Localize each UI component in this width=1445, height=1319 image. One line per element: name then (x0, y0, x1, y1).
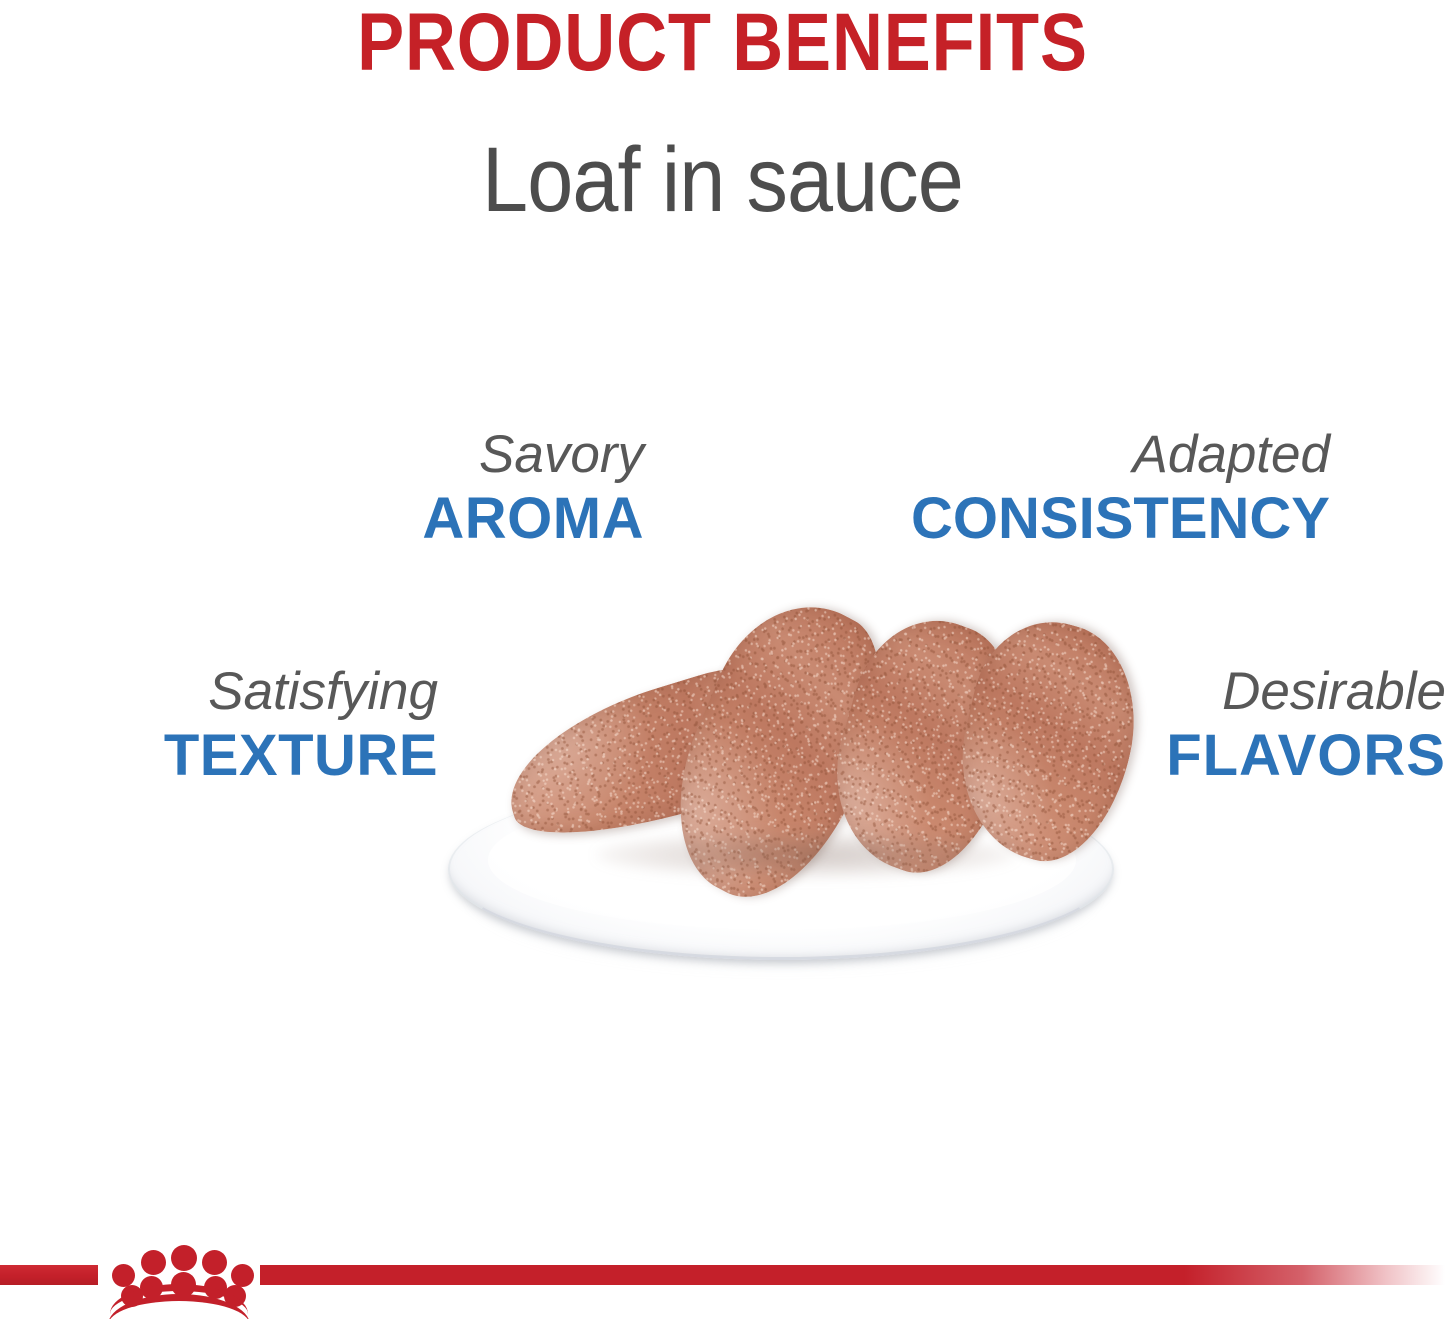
footer-rule-right (260, 1265, 1445, 1285)
benefit-texture-adjective: Satisfying (40, 665, 438, 718)
page-title: PRODUCT BENEFITS (101, 0, 1344, 90)
product-photo (430, 600, 1130, 1000)
page-subtitle: Loaf in sauce (72, 128, 1373, 233)
benefit-consistency-label: CONSISTENCY (852, 490, 1330, 548)
benefit-aroma: Savory AROMA (262, 428, 644, 548)
royal-canin-crown-icon (98, 1236, 260, 1319)
food-contact-shadow (596, 832, 1016, 878)
benefit-texture: Satisfying TEXTURE (40, 665, 438, 785)
benefit-texture-label: TEXTURE (40, 727, 438, 785)
benefit-aroma-label: AROMA (262, 490, 644, 548)
benefit-consistency: Adapted CONSISTENCY (852, 428, 1330, 548)
footer-rule-left (0, 1265, 98, 1285)
benefit-consistency-adjective: Adapted (852, 428, 1330, 481)
product-benefits-infographic: PRODUCT BENEFITS Loaf in sauce Savory AR… (0, 0, 1445, 1319)
benefit-aroma-adjective: Savory (262, 428, 644, 481)
footer (0, 1236, 1445, 1319)
